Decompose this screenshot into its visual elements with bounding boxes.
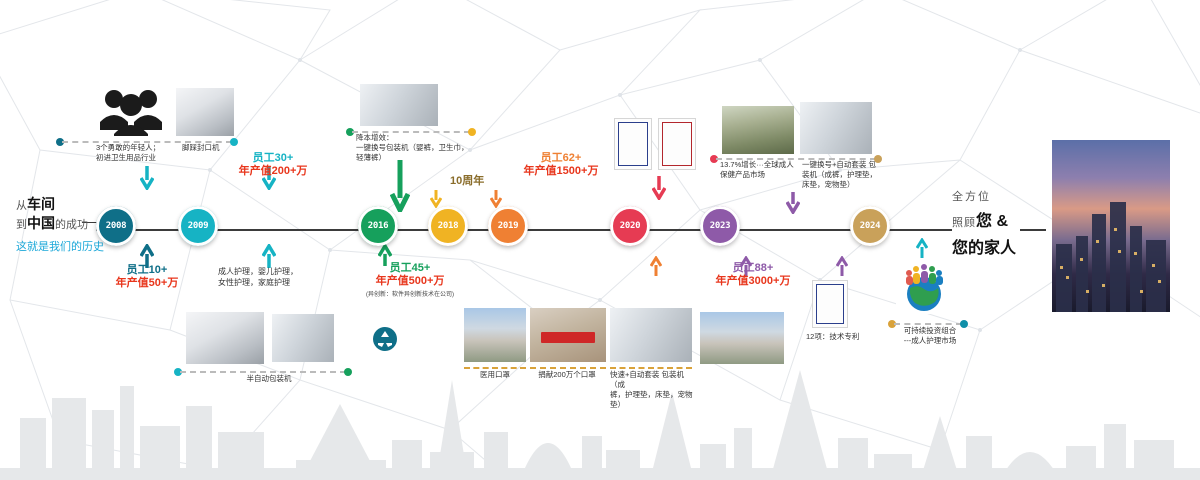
caption-sustainable-line2: ---成人护理市场	[888, 336, 972, 346]
outro-block: 全方位 照顾您 & 您的家人	[952, 188, 1016, 258]
caption-sustainable: 可持续投资组合 ---成人护理市场	[888, 326, 972, 346]
outro-line-1: 全方位	[952, 188, 1016, 204]
intro-line1-strong: 车间	[27, 196, 55, 212]
dash-connector-mask	[464, 364, 526, 365]
city-skyline-dusk-photo	[1052, 140, 1170, 312]
node-year-2019: 2019	[498, 221, 518, 231]
caption-founders-line1: 3个勇敢的年轻人；	[96, 143, 186, 153]
stat-2008-output: 年产值50+万	[92, 277, 202, 290]
desc-care-line2: 女性护理，家庭护理	[218, 277, 338, 288]
background-network-pattern	[0, 0, 1200, 480]
anniversary-badge: 10周年	[450, 172, 484, 188]
node-year-2008: 2008	[106, 221, 126, 231]
stat-2016-employees: 员工45+	[340, 262, 480, 275]
fast-auto-packaging-machine-photo	[610, 308, 692, 362]
intro-block: 从车间 到中国的成功 这就是我们的历史	[16, 196, 104, 254]
arrow-up-2019	[650, 256, 662, 276]
stat-2016-output: 年产值500+万	[340, 275, 480, 288]
honor-certificate-image	[658, 118, 696, 170]
node-year-2009: 2009	[188, 221, 208, 231]
stat-2023-employees: 员工88+	[688, 262, 818, 275]
outro-line-3: 您的家人	[952, 234, 1016, 258]
node-year-2016: 2016	[368, 221, 388, 231]
caption-market-growth: 13.7%增长···全球成人 保健产品市场	[720, 160, 798, 180]
team-celebration-photo	[722, 106, 794, 154]
desc-care-line1: 成人护理，婴儿护理，	[218, 266, 338, 277]
node-year-2020: 2020	[620, 221, 640, 231]
dash-connector-2023-top	[710, 155, 882, 156]
intro-tagline: 这就是我们的历史	[16, 238, 104, 254]
caption-onekey-line3: 床垫，宠物垫）	[802, 180, 882, 190]
stat-2008-employees: 员工10+	[92, 264, 202, 277]
stat-2009-top: 员工30+ 年产值200+万	[218, 152, 328, 178]
sealing-machine-photo	[176, 88, 234, 136]
node-year-2018: 2018	[438, 221, 458, 231]
one-key-changeover-packaging-machine-photo	[360, 84, 438, 126]
big-green-down-arrow	[390, 160, 410, 217]
stat-2008: 员工10+ 年产值50+万	[92, 264, 202, 290]
automatic-packaging-line-photo	[800, 102, 872, 154]
intro-line-2: 到中国的成功	[16, 215, 104, 234]
dash-connector-onekey	[346, 128, 476, 129]
caption-fast-auto-line2: 裤，护理垫，床垫，宠物	[610, 390, 696, 400]
caption-cost-line1: 降本增效：	[356, 133, 484, 143]
stat-2019-employees: 员工62+	[496, 152, 626, 165]
outro-line2-strong: 您 &	[976, 213, 1008, 230]
stat-2009-output: 年产值200+万	[218, 165, 328, 178]
timeline-node-2018[interactable]: 2018	[428, 206, 468, 246]
stat-2016: 员工45+ 年产值500+万 (异创新：软件异创新技术在公司)	[340, 262, 480, 302]
caption-medical-mask: 医用口罩	[464, 370, 526, 380]
timeline-infographic: 从车间 到中国的成功 这就是我们的历史 全方位 照顾您 & 您的家人 2008 …	[0, 0, 1200, 480]
caption-semi-auto: 半自动包装机	[224, 374, 314, 384]
caption-growth-line1: 13.7%增长···全球成人	[720, 160, 798, 170]
stat-2019-top: 员工62+ 年产值1500+万	[496, 152, 626, 178]
intro-line1-prefix: 从	[16, 200, 27, 212]
mask-donation-ceremony-photo	[530, 308, 606, 362]
node-year-2023: 2023	[710, 221, 730, 231]
caption-sealing-machine: 脚踩封口机	[182, 143, 252, 153]
dash-connector-sustainable	[888, 320, 968, 321]
stat-2023: 员工88+ 年产值3000+万	[688, 262, 818, 288]
caption-growth-line2: 保健产品市场	[720, 170, 798, 180]
three-people-icon	[100, 88, 162, 141]
outro-rule-right	[1020, 229, 1046, 231]
stat-2016-note: (异创新：软件异创新技术在公司)	[340, 289, 480, 302]
arrow-up-2009	[262, 244, 276, 268]
caption-founders: 3个勇敢的年轻人； 初进卫生用品行业	[96, 143, 186, 163]
arrow-down-2018	[430, 190, 442, 208]
caption-cost-line2: 一键换号包装机（婴裤，卫生巾，	[356, 143, 484, 153]
arrow-down-2019	[490, 190, 502, 208]
intro-line2-prefix: 到	[16, 219, 27, 231]
outro-line-2: 照顾您 &	[952, 207, 1016, 231]
dash-connector-donation	[530, 364, 606, 365]
arrow-down-2023	[786, 192, 800, 214]
timeline-node-2020[interactable]: 2020	[610, 206, 650, 246]
factory-building-photo	[700, 312, 784, 364]
dash-connector-fastauto	[610, 364, 692, 365]
stat-2023-output: 年产值3000+万	[688, 275, 818, 288]
node-year-2024: 2024	[860, 221, 880, 231]
timeline-node-2009[interactable]: 2009	[178, 206, 218, 246]
caption-onekey-auto: 一键换号+自动套装 包 装机（成裤，护理垫， 床垫，宠物垫）	[802, 160, 882, 190]
patent-certificate-image	[812, 280, 848, 328]
arrow-down-2008	[140, 166, 154, 190]
desc-care-categories: 成人护理，婴儿护理， 女性护理，家庭护理	[218, 266, 338, 288]
semi-auto-packaging-machine-photo-2	[272, 314, 334, 362]
caption-sustainable-line1: 可持续投资组合	[888, 326, 972, 336]
arrow-up-2024	[836, 256, 848, 276]
intro-line2-suffix: 的成功	[55, 219, 88, 231]
caption-patents: 12项：技术专利	[806, 332, 876, 342]
timeline-node-2024[interactable]: 2024	[850, 206, 890, 246]
intro-line2-strong: 中国	[27, 215, 55, 231]
medical-mask-production-line-photo	[464, 308, 526, 362]
intro-line-1: 从车间	[16, 196, 104, 215]
dash-connector-semiauto	[174, 368, 352, 369]
dash-dot-right-green	[344, 368, 352, 376]
caption-cost-line3: 轻薄裤）	[356, 153, 484, 163]
caption-founders-line2: 初进卫生用品行业	[96, 153, 186, 163]
iso-certificate-image	[614, 118, 652, 170]
caption-onekey-line2: 装机（成裤，护理垫，	[802, 170, 882, 180]
semi-auto-packaging-machine-photo	[186, 312, 264, 364]
caption-fast-auto-pack: 快速+自动套装 包装机（成 裤，护理垫，床垫，宠物 垫）	[610, 370, 696, 410]
recycle-logo-icon	[372, 326, 398, 357]
timeline-node-2016[interactable]: 2016	[358, 206, 398, 246]
outro-line2-small: 照顾	[952, 217, 976, 229]
caption-fast-auto-line3: 垫）	[610, 400, 696, 410]
timeline-node-2019[interactable]: 2019	[488, 206, 528, 246]
stat-2009-employees: 员工30+	[218, 152, 328, 165]
caption-mask-donation: 捐献200万个口罩	[524, 370, 610, 380]
arrow-down-2020	[652, 176, 666, 200]
timeline-node-2023[interactable]: 2023	[700, 206, 740, 246]
arrow-up-2024b	[916, 238, 928, 258]
caption-onekey-line1: 一键换号+自动套装 包	[802, 160, 882, 170]
global-population-globe-icon	[896, 258, 952, 314]
outro-rule-left	[930, 229, 952, 231]
caption-cost-efficiency: 降本增效： 一键换号包装机（婴裤，卫生巾， 轻薄裤）	[356, 133, 484, 163]
timeline-node-2008[interactable]: 2008	[96, 206, 136, 246]
caption-fast-auto-line1: 快速+自动套装 包装机（成	[610, 370, 696, 390]
stat-2019-output: 年产值1500+万	[496, 165, 626, 178]
